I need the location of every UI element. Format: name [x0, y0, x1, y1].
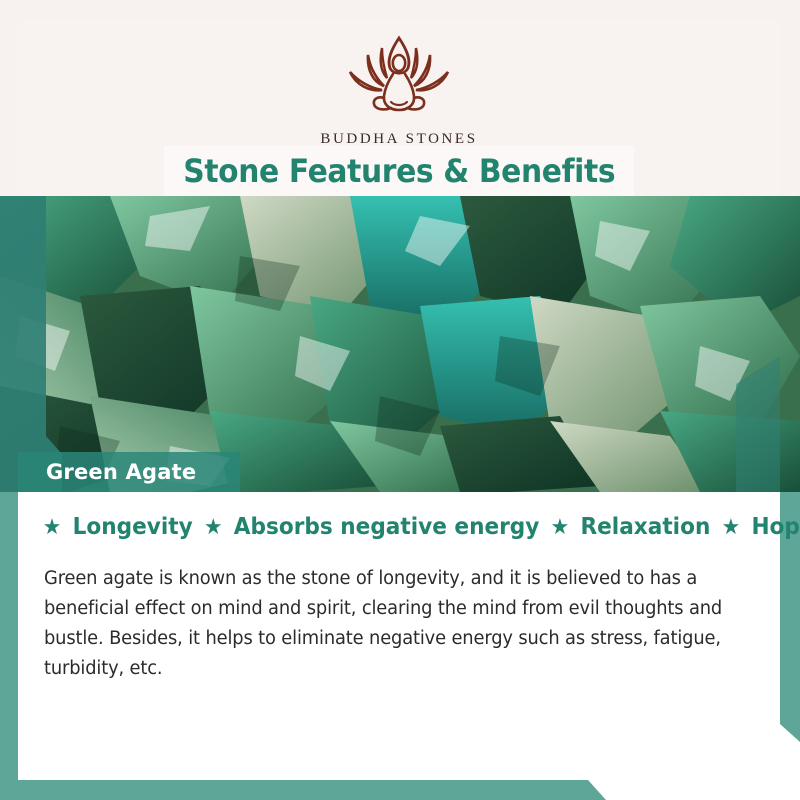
card-header: BUDDHA STONES Stone Features & Benefits	[0, 0, 800, 196]
benefits-list: ★ Longevity ★ Absorbs negative energy ★ …	[41, 514, 757, 540]
benefit-item: Longevity	[63, 514, 202, 540]
benefit-item: Relaxation	[571, 514, 720, 540]
lotus-meditation-figure-icon	[334, 28, 464, 129]
star-icon: ★	[549, 515, 571, 540]
benefit-item: Absorbs negative energy	[224, 514, 548, 540]
description-paragraph: Green agate is known as the stone of lon…	[44, 564, 737, 684]
star-icon: ★	[720, 515, 742, 540]
star-icon: ★	[41, 515, 63, 540]
stone-info-card: BUDDHA STONES Stone Features & Benefits	[0, 0, 800, 800]
card-body: ★ Longevity ★ Absorbs negative energy ★ …	[18, 492, 780, 780]
stone-name-label: Green Agate	[18, 452, 240, 492]
stone-name-text: Green Agate	[18, 460, 196, 484]
title-bar: Stone Features & Benefits	[164, 146, 634, 196]
star-icon: ★	[202, 515, 224, 540]
stone-photo	[0, 196, 800, 492]
card-header-inner: BUDDHA STONES Stone Features & Benefits	[18, 20, 780, 196]
decorative-bottom-band	[0, 780, 620, 800]
brand-logo: BUDDHA STONES	[18, 28, 780, 148]
benefit-item: Hope	[742, 514, 800, 540]
page-title: Stone Features & Benefits	[183, 152, 615, 190]
